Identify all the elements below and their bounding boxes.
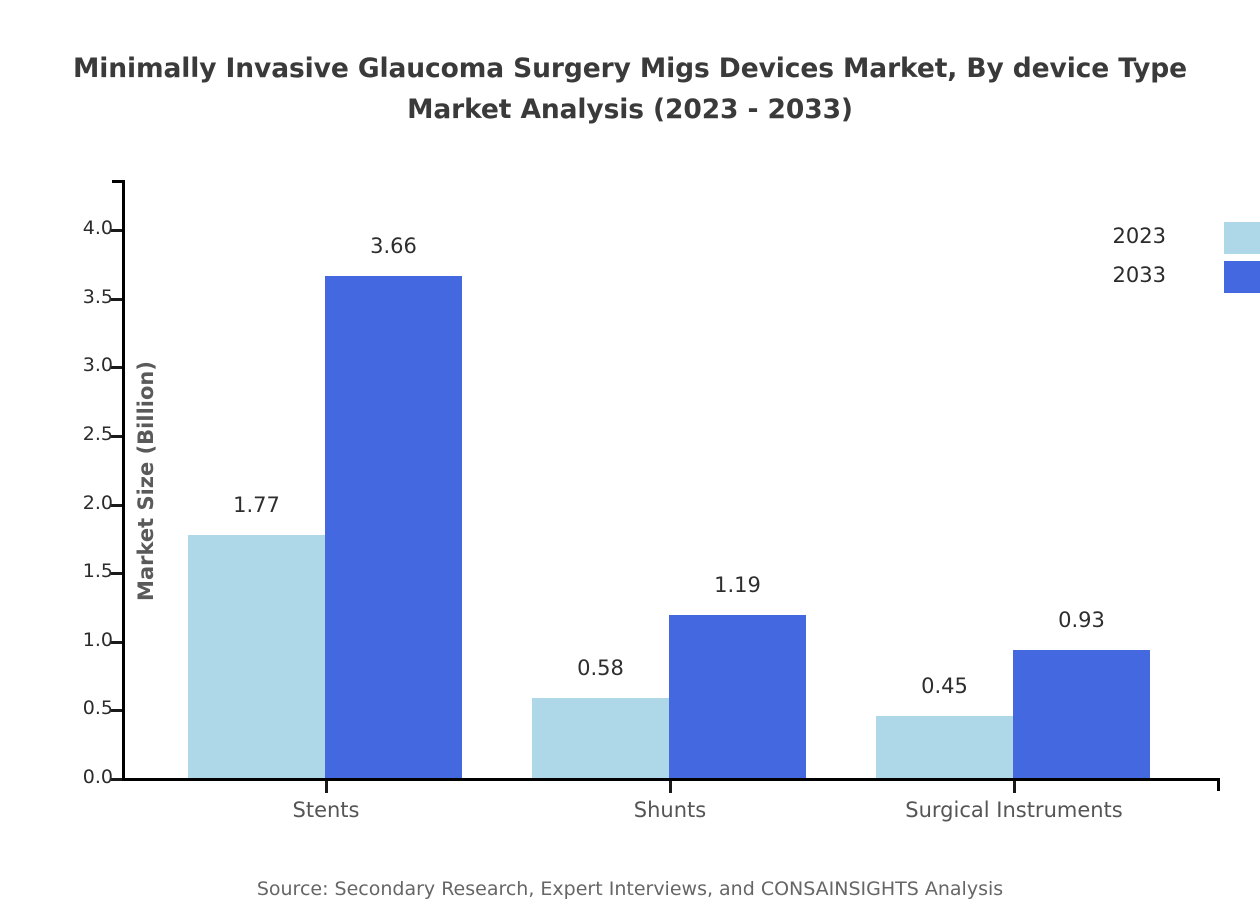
legend-entry-2033[interactable]: 2033 xyxy=(1134,259,1260,293)
bar-value-label-2023-stents: 1.77 xyxy=(233,493,280,517)
x-axis-end-cap xyxy=(1217,778,1220,791)
x-tick-mark-stents xyxy=(325,781,328,793)
bar-value-label-2033-stents: 3.66 xyxy=(370,234,417,258)
y-tick-label: 2.0 xyxy=(83,492,113,514)
bar-value-label-2033-surgical-instruments: 0.93 xyxy=(1058,608,1105,632)
bar-2023-stents[interactable] xyxy=(188,535,325,778)
legend-swatch-2033 xyxy=(1224,261,1260,293)
bar-value-label-2023-surgical-instruments: 0.45 xyxy=(921,674,968,698)
y-axis-spine xyxy=(122,180,125,781)
source-note: Source: Secondary Research, Expert Inter… xyxy=(0,878,1260,900)
x-tick-mark-shunts xyxy=(669,781,672,793)
bar-value-label-2033-shunts: 1.19 xyxy=(714,573,761,597)
legend-label-2023: 2023 xyxy=(1113,224,1166,248)
x-axis-label-stents: Stents xyxy=(293,798,360,822)
x-tick-mark-surgical-instruments xyxy=(1013,781,1016,793)
y-tick-label: 3.0 xyxy=(83,354,113,376)
plot-area: Market Size (Billion) 0.0 0.5 1.0 1.5 2.… xyxy=(122,180,1220,781)
y-tick-label: 1.5 xyxy=(83,560,113,582)
chart-title-line-2: Market Analysis (2023 - 2033) xyxy=(0,89,1260,130)
y-axis-top-cap xyxy=(112,180,124,183)
chart-figure: Minimally Invasive Glaucoma Surgery Migs… xyxy=(0,0,1260,920)
bar-2033-surgical-instruments[interactable] xyxy=(1013,650,1150,778)
chart-title-line-1: Minimally Invasive Glaucoma Surgery Migs… xyxy=(0,48,1260,89)
bar-value-label-2023-shunts: 0.58 xyxy=(577,656,624,680)
bar-2033-stents[interactable] xyxy=(325,276,462,778)
chart-legend: 2023 2033 xyxy=(1134,218,1260,300)
y-tick-label: 0.5 xyxy=(83,697,113,719)
legend-swatch-2023 xyxy=(1224,222,1260,254)
bar-2023-surgical-instruments[interactable] xyxy=(876,716,1013,778)
x-axis-label-surgical-instruments: Surgical Instruments xyxy=(905,798,1122,822)
chart-title: Minimally Invasive Glaucoma Surgery Migs… xyxy=(0,48,1260,130)
x-axis-label-shunts: Shunts xyxy=(634,798,706,822)
y-tick-label: 0.0 xyxy=(83,766,113,788)
y-tick-label: 1.0 xyxy=(83,629,113,651)
legend-entry-2023[interactable]: 2023 xyxy=(1134,220,1260,254)
y-tick-label: 2.5 xyxy=(83,423,113,445)
y-tick-label: 4.0 xyxy=(83,217,113,239)
y-tick-label: 3.5 xyxy=(83,286,113,308)
y-axis-title: Market Size (Billion) xyxy=(134,361,158,601)
bar-2023-shunts[interactable] xyxy=(532,698,669,778)
bar-2033-shunts[interactable] xyxy=(669,615,806,778)
legend-label-2033: 2033 xyxy=(1113,263,1166,287)
